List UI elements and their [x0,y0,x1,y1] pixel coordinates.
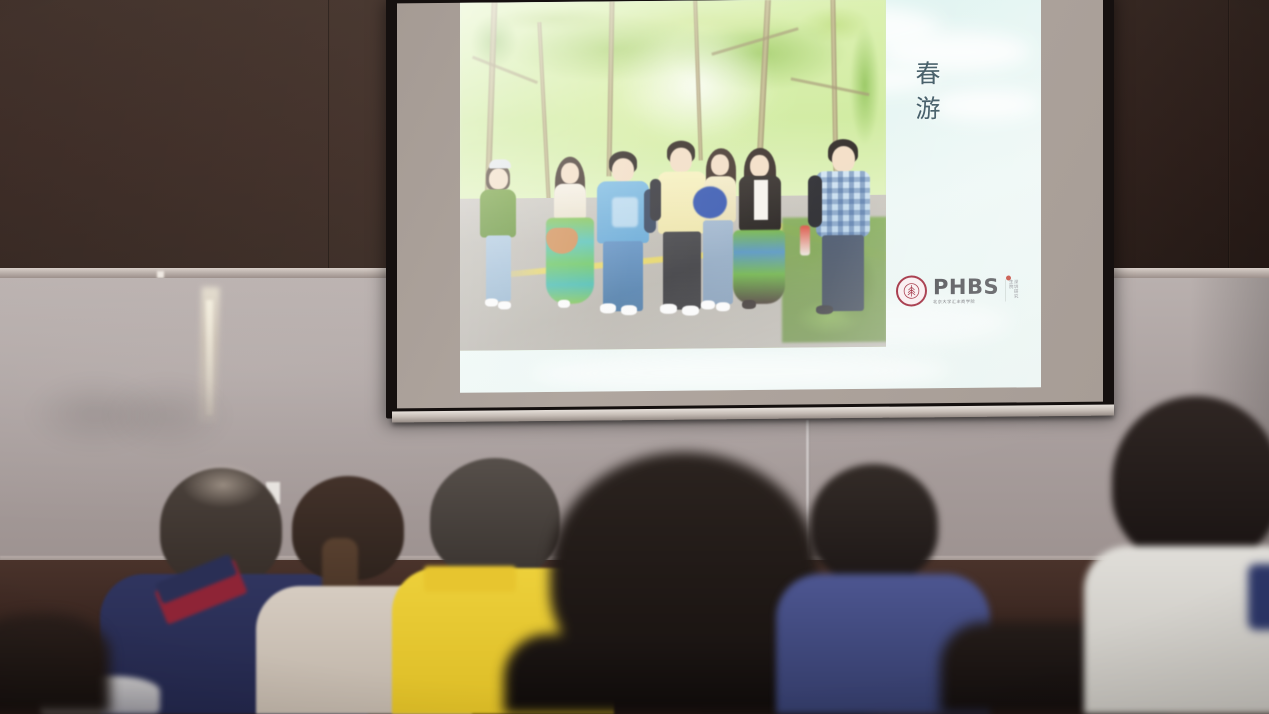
wood-panel-seam [1228,0,1230,276]
logo-accent-dot [1006,275,1011,280]
wall-shadow [105,378,230,453]
phbs-wordmark: PHBS [933,276,999,298]
peking-university-seal-icon [896,275,927,306]
rail-highlight [157,271,164,278]
screen-surface: 春游 PHBS 北京大学汇丰商学院 深圳研究生院 [397,0,1103,408]
slide-cloud [930,89,1040,120]
phbs-subtitle: 北京大学汇丰商学院 [933,299,999,304]
lecture-hall-scene: 春游 PHBS 北京大学汇丰商学院 深圳研究生院 [0,0,1269,714]
slide-cloud [530,350,950,393]
phbs-logo: PHBS 北京大学汇丰商学院 深圳研究生院 [896,274,1019,306]
projection-screen[interactable]: 春游 PHBS 北京大学汇丰商学院 深圳研究生院 [386,0,1114,418]
wood-panel-seam [328,0,330,276]
slide-group-photo [460,0,886,351]
presentation-slide: 春游 PHBS 北京大学汇丰商学院 深圳研究生院 [460,0,1041,393]
foreground-blur-mass [0,614,110,714]
slide-title: 春游 [908,60,944,130]
phbs-vertical-text: 深圳研究生院 [1005,279,1019,301]
slide-cloud [880,31,1030,72]
